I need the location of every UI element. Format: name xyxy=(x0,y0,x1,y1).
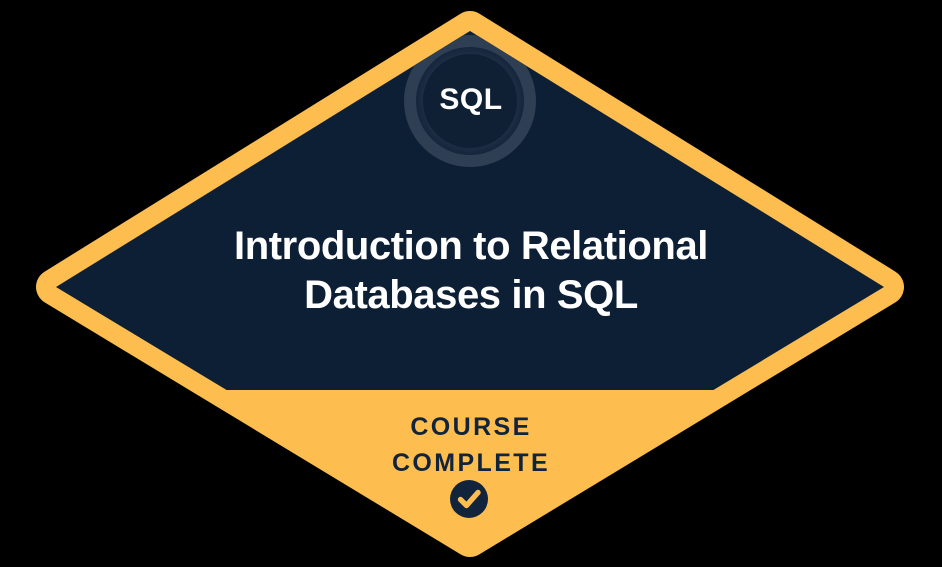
badge-shape-svg xyxy=(0,0,942,567)
sql-emblem-disc xyxy=(423,54,517,148)
check-circle-icon xyxy=(450,480,488,518)
badge-navy-field xyxy=(0,0,942,390)
course-completion-badge: SQL Introduction to Relational Databases… xyxy=(0,0,942,567)
